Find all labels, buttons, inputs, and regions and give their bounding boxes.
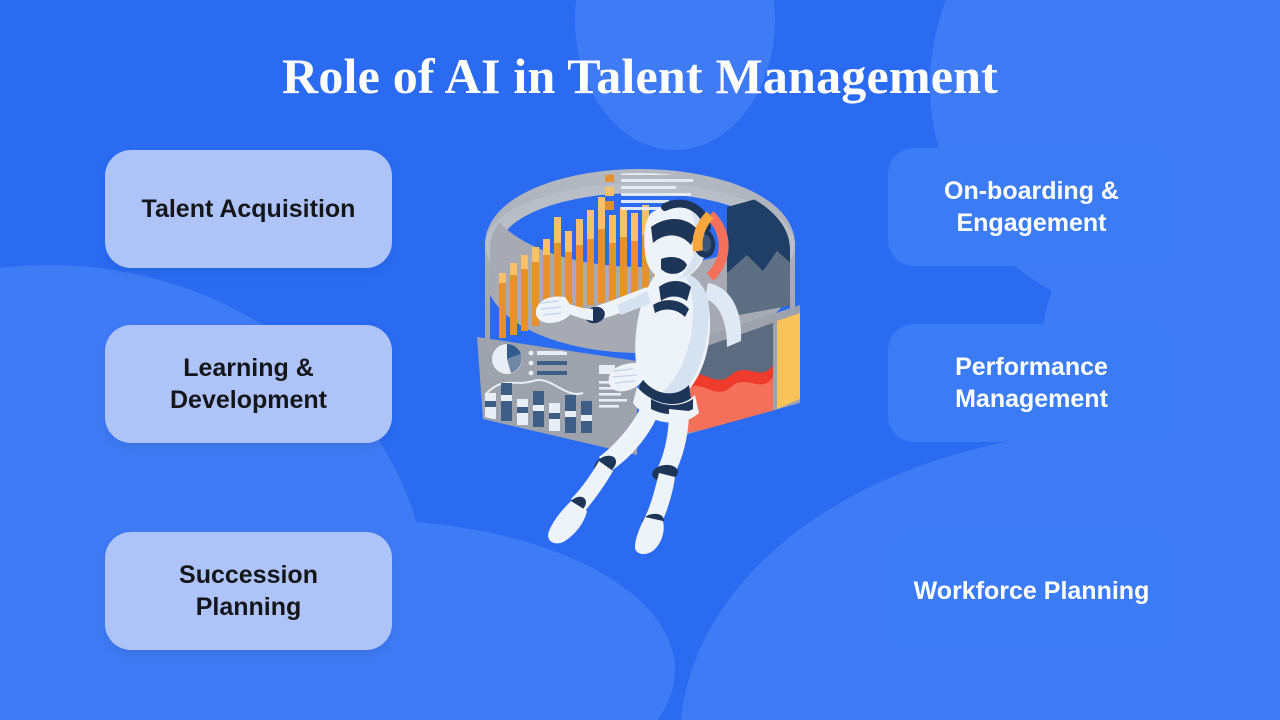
card-onboarding-engagement[interactable]: On-boarding & Engagement <box>888 148 1175 266</box>
card-label: Succession Planning <box>123 559 374 623</box>
card-label: Talent Acquisition <box>142 193 356 225</box>
card-label: Learning & Development <box>123 352 374 416</box>
card-workforce-planning[interactable]: Workforce Planning <box>888 532 1175 650</box>
card-label: Performance Management <box>906 351 1157 415</box>
card-label: Workforce Planning <box>914 575 1150 607</box>
card-learning-development[interactable]: Learning & Development <box>105 325 392 443</box>
screen-right-dark <box>727 189 793 317</box>
slide-root: Role of AI in Talent Management Talent A… <box>0 0 1280 720</box>
ai-robot-analytics-illustration <box>455 155 825 555</box>
card-succession-planning[interactable]: Succession Planning <box>105 532 392 650</box>
card-talent-acquisition[interactable]: Talent Acquisition <box>105 150 392 268</box>
page-title: Role of AI in Talent Management <box>0 48 1280 106</box>
pie-chart <box>492 344 522 374</box>
card-label: On-boarding & Engagement <box>906 175 1157 239</box>
card-performance-management[interactable]: Performance Management <box>888 324 1175 442</box>
